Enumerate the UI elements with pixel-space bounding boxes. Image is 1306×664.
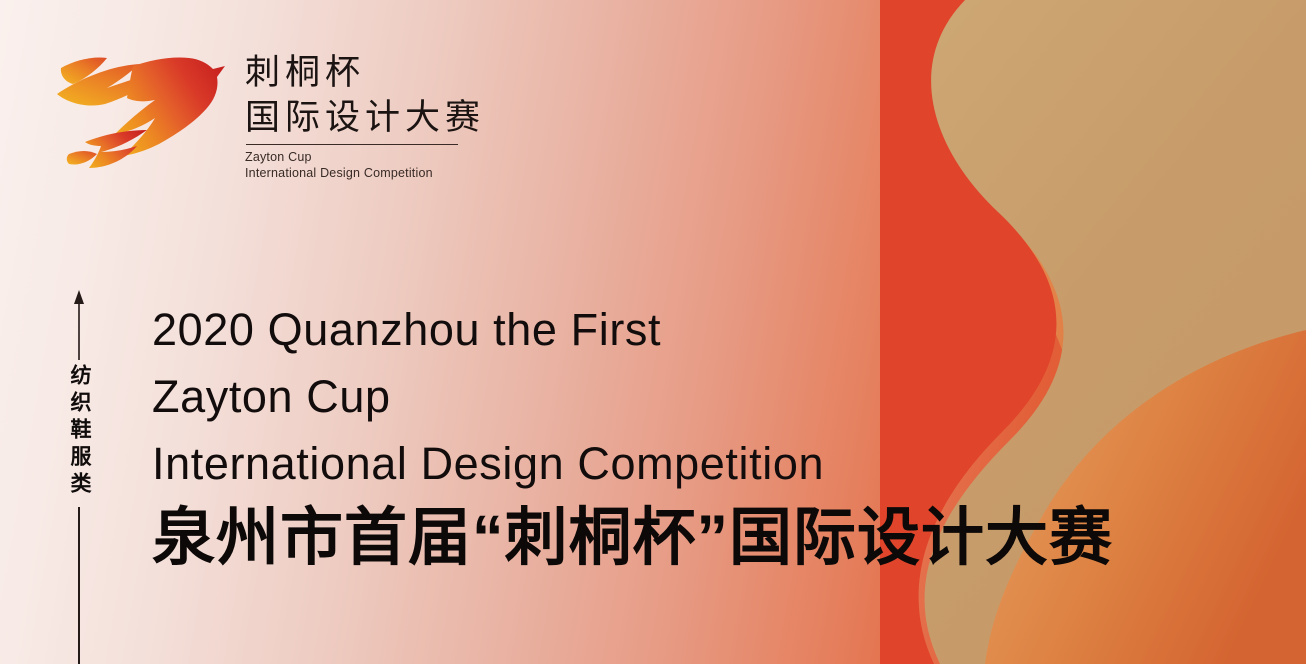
brand-divider bbox=[246, 144, 458, 145]
arrow-up-icon bbox=[72, 288, 86, 360]
zayton-phoenix-bird-icon bbox=[55, 44, 233, 176]
category-rail: 纺织鞋服类 bbox=[62, 288, 96, 664]
brand-en-line1: Zayton Cup bbox=[245, 150, 485, 166]
headline-block: 2020 Quanzhou the First Zayton Cup Inter… bbox=[152, 296, 1292, 577]
rail-bottom-line bbox=[78, 507, 80, 664]
headline-en-line1: 2020 Quanzhou the First bbox=[152, 296, 1292, 363]
brand-cn-line2: 国际设计大赛 bbox=[245, 95, 485, 140]
brand-cn-line1: 刺桐杯 bbox=[245, 50, 485, 95]
headline-en-line2: Zayton Cup bbox=[152, 363, 1292, 430]
poster-canvas: 刺桐杯 国际设计大赛 Zayton Cup International Desi… bbox=[0, 0, 1306, 664]
category-label: 纺织鞋服类 bbox=[64, 364, 94, 499]
brand-en-line2: International Design Competition bbox=[245, 166, 485, 182]
headline-cn-line: 泉州市首届“刺桐杯”国际设计大赛 bbox=[152, 499, 1292, 577]
brand-logo: 刺桐杯 国际设计大赛 Zayton Cup International Desi… bbox=[55, 44, 485, 181]
headline-en-line3: International Design Competition bbox=[152, 430, 1292, 497]
brand-logo-text: 刺桐杯 国际设计大赛 Zayton Cup International Desi… bbox=[245, 50, 485, 181]
